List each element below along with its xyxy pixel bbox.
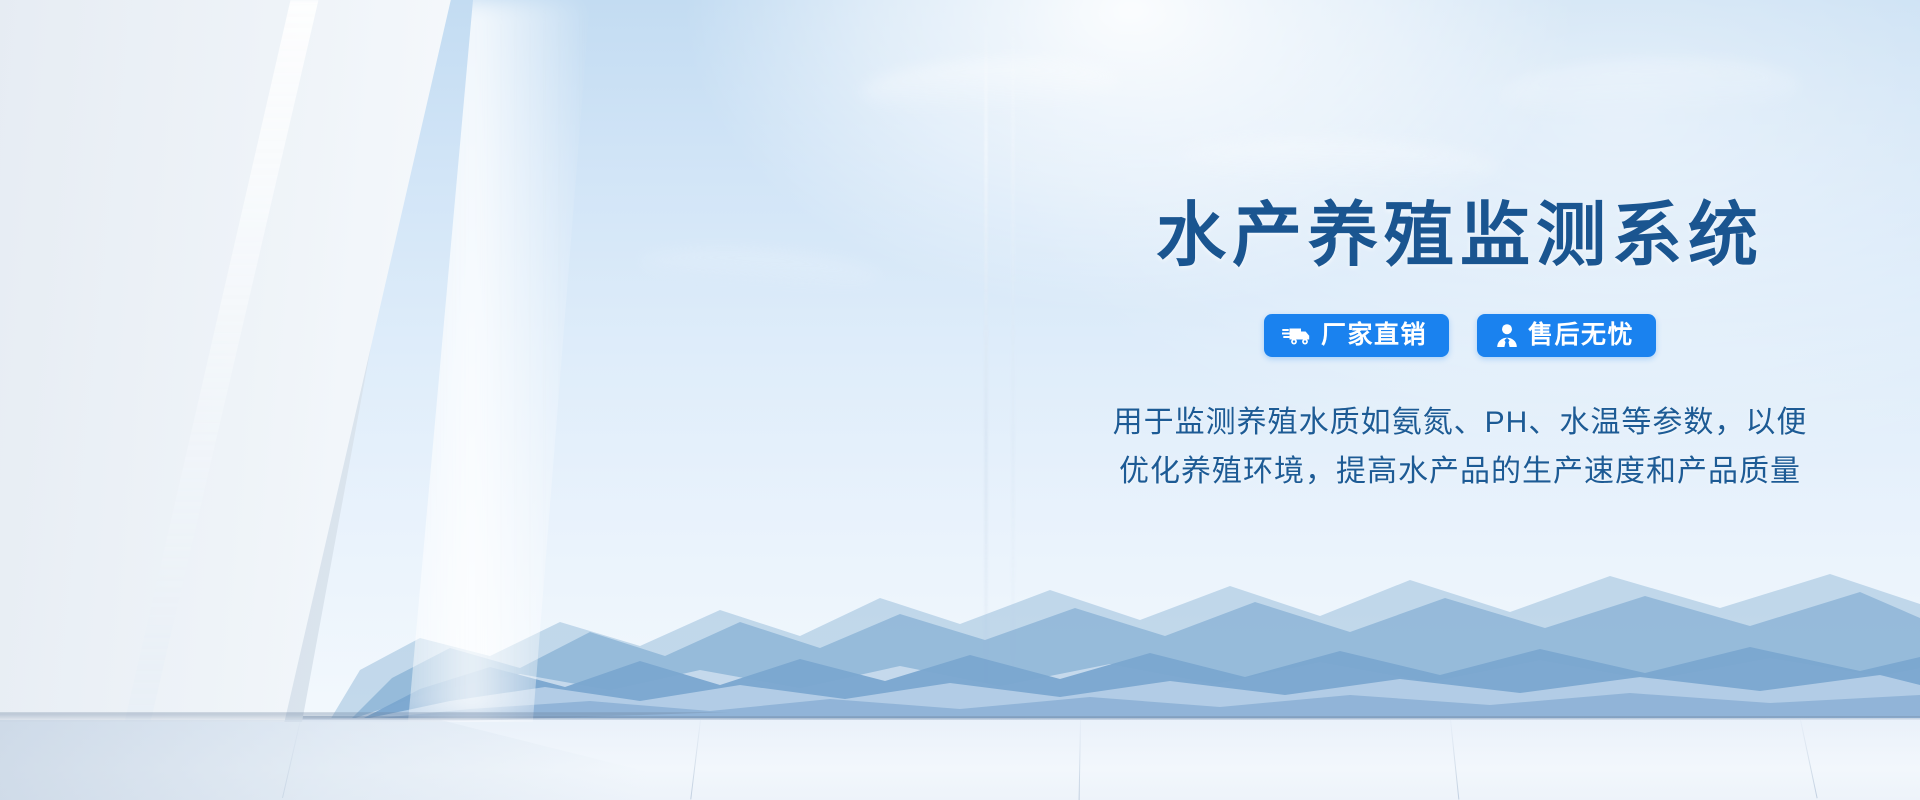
support-agent-icon (1495, 323, 1519, 348)
badge-after-sales[interactable]: 售后无忧 (1477, 314, 1656, 357)
description-line-1: 用于监测养殖水质如氨氮、PH、水温等参数，以便 (1113, 399, 1808, 448)
delivery-truck-icon (1282, 324, 1312, 348)
badge-label: 售后无忧 (1528, 323, 1634, 348)
banner-content: 水产养殖监测系统 厂家直销 (1060, 0, 1860, 800)
description-line-2: 优化养殖环境，提高水产品的生产速度和产品质量 (1113, 448, 1808, 497)
badge-label: 厂家直销 (1321, 323, 1427, 348)
hero-banner: 水产养殖监测系统 厂家直销 (0, 0, 1920, 800)
banner-description: 用于监测养殖水质如氨氮、PH、水温等参数，以便 优化养殖环境，提高水产品的生产速… (1113, 399, 1808, 496)
badge-factory-direct[interactable]: 厂家直销 (1264, 314, 1449, 357)
badge-group: 厂家直销 售后无忧 (1264, 314, 1656, 357)
page-title: 水产养殖监测系统 (1156, 200, 1764, 270)
